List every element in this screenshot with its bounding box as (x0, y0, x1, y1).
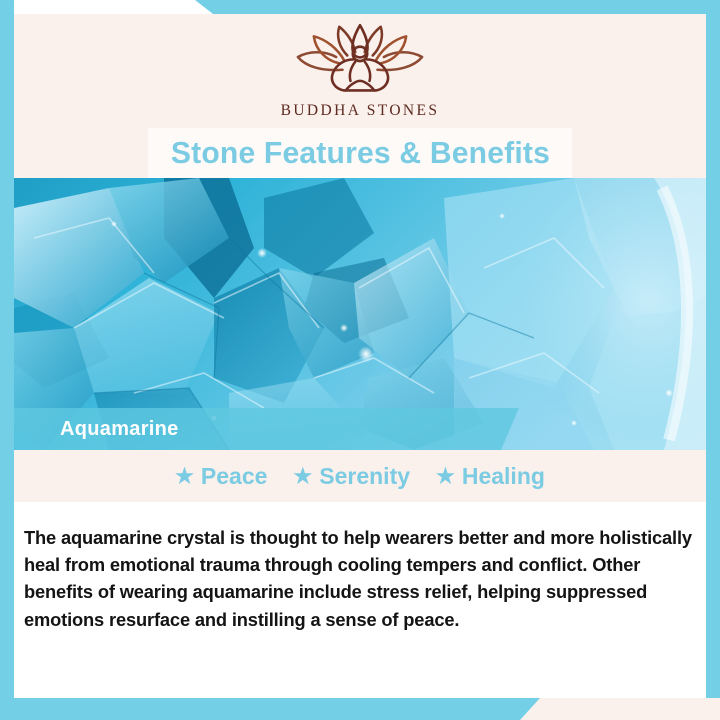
description-panel: The aquamarine crystal is thought to hel… (14, 502, 706, 698)
brand-name: BUDDHA STONES (281, 102, 440, 120)
frame-bottom-cream-accent (520, 698, 720, 720)
star-icon: ★ (175, 466, 194, 487)
benefit-item-serenity: ★ Serenity (293, 463, 410, 490)
frame-top-accent (0, 0, 720, 14)
infographic-card: BUDDHA STONES (0, 0, 720, 720)
page-title: Stone Features & Benefits (170, 135, 549, 171)
frame-right-accent (706, 0, 720, 720)
star-icon: ★ (293, 466, 312, 487)
benefit-item-healing: ★ Healing (436, 463, 545, 490)
benefit-label: Serenity (319, 463, 410, 490)
stone-name-badge: Aquamarine (14, 408, 519, 450)
star-icon: ★ (436, 466, 455, 487)
lotus-meditation-icon (280, 22, 440, 100)
benefit-label: Peace (201, 463, 268, 490)
stone-name-label: Aquamarine (60, 418, 179, 441)
benefit-label: Healing (462, 463, 545, 490)
brand-logo: BUDDHA STONES (14, 22, 706, 120)
benefit-item-peace: ★ Peace (175, 463, 267, 490)
frame-left-accent (0, 0, 14, 720)
title-banner: Stone Features & Benefits (148, 128, 572, 178)
benefits-list: ★ Peace ★ Serenity ★ Healing (14, 450, 706, 502)
description-text: The aquamarine crystal is thought to hel… (24, 524, 692, 632)
hero-image: Aquamarine (14, 178, 706, 450)
